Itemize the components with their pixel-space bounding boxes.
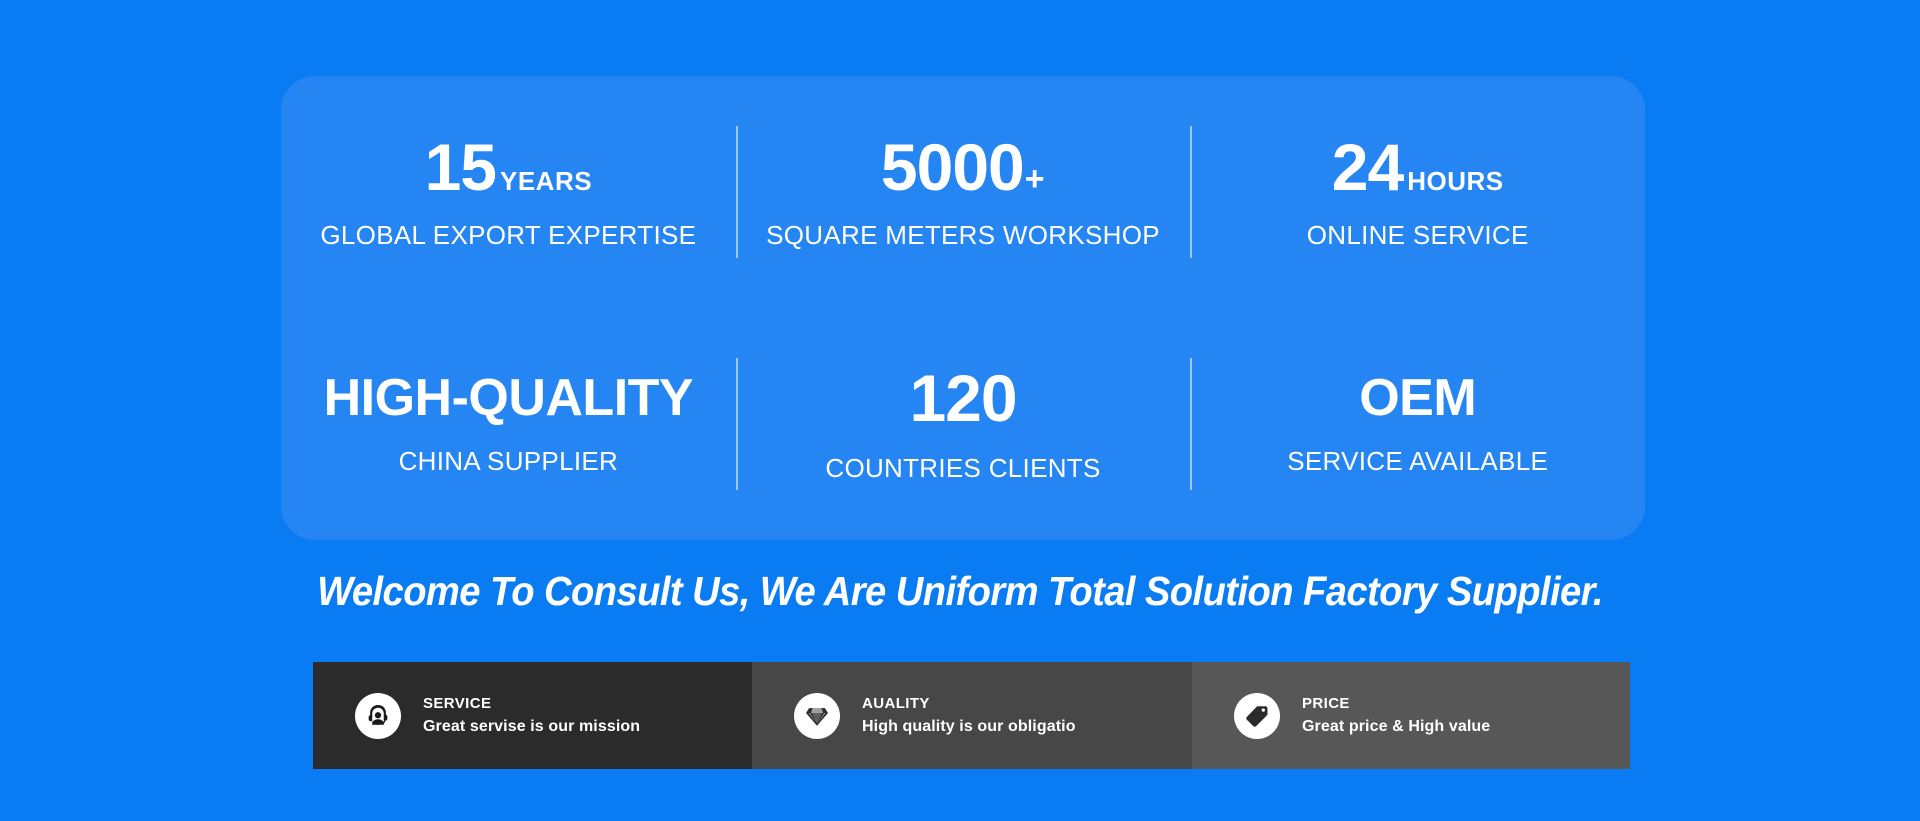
stat-cell-countries: 120 COUNTRIES CLIENTS xyxy=(736,308,1191,540)
stat-cell-oem: OEM SERVICE AVAILABLE xyxy=(1190,308,1645,540)
stat-label: ONLINE SERVICE xyxy=(1307,220,1529,251)
stat-value: 15 YEARS xyxy=(425,134,593,200)
stat-unit: YEARS xyxy=(500,168,592,194)
service-text: PRICE Great price & High value xyxy=(1302,694,1490,738)
headline-text: Welcome To Consult Us, We Are Uniform To… xyxy=(67,568,1853,615)
stat-label: SQUARE METERS WORKSHOP xyxy=(766,220,1160,251)
service-item-service[interactable]: SERVICE Great servise is our mission xyxy=(313,662,752,769)
stat-value: HIGH-QUALITY xyxy=(324,372,694,424)
service-title: PRICE xyxy=(1302,694,1490,714)
service-title: AUALITY xyxy=(862,694,1076,714)
stat-unit: + xyxy=(1025,162,1045,196)
diamond-icon xyxy=(794,693,840,739)
stat-cell-years: 15 YEARS GLOBAL EXPORT EXPERTISE xyxy=(281,76,736,308)
stat-label: CHINA SUPPLIER xyxy=(399,446,619,477)
stat-label: COUNTRIES CLIENTS xyxy=(825,453,1100,484)
stat-label: SERVICE AVAILABLE xyxy=(1287,446,1548,477)
service-item-price[interactable]: PRICE Great price & High value xyxy=(1192,662,1630,769)
service-item-quality[interactable]: AUALITY High quality is our obligatio xyxy=(752,662,1192,769)
service-text: AUALITY High quality is our obligatio xyxy=(862,694,1076,738)
stat-number: 120 xyxy=(909,365,1016,431)
stats-card: 15 YEARS GLOBAL EXPORT EXPERTISE 5000 + … xyxy=(281,76,1645,540)
stat-unit: HOURS xyxy=(1407,168,1503,194)
stats-row-1: 15 YEARS GLOBAL EXPORT EXPERTISE 5000 + … xyxy=(281,76,1645,308)
stat-value: 5000 + xyxy=(881,134,1045,200)
stat-cell-workshop: 5000 + SQUARE METERS WORKSHOP xyxy=(736,76,1191,308)
service-subtitle: Great price & High value xyxy=(1302,716,1490,738)
headset-support-icon xyxy=(355,693,401,739)
stat-value: 24 HOURS xyxy=(1332,134,1504,200)
stat-number: 15 xyxy=(425,134,496,200)
stat-cell-high-quality: HIGH-QUALITY CHINA SUPPLIER xyxy=(281,308,736,540)
price-tag-icon xyxy=(1234,693,1280,739)
stat-number: 5000 xyxy=(881,134,1024,200)
service-subtitle: Great servise is our mission xyxy=(423,716,640,738)
stat-cell-online-service: 24 HOURS ONLINE SERVICE xyxy=(1190,76,1645,308)
service-subtitle: High quality is our obligatio xyxy=(862,716,1076,738)
stat-label: GLOBAL EXPORT EXPERTISE xyxy=(320,220,696,251)
stat-value: 120 xyxy=(909,365,1016,431)
service-text: SERVICE Great servise is our mission xyxy=(423,694,640,738)
stat-number: HIGH-QUALITY xyxy=(324,372,694,424)
stat-number: 24 xyxy=(1332,134,1403,200)
service-title: SERVICE xyxy=(423,694,640,714)
stat-value: OEM xyxy=(1359,372,1476,424)
stat-number: OEM xyxy=(1359,372,1476,424)
stats-row-2: HIGH-QUALITY CHINA SUPPLIER 120 COUNTRIE… xyxy=(281,308,1645,540)
service-bar: SERVICE Great servise is our mission AUA… xyxy=(313,662,1630,769)
